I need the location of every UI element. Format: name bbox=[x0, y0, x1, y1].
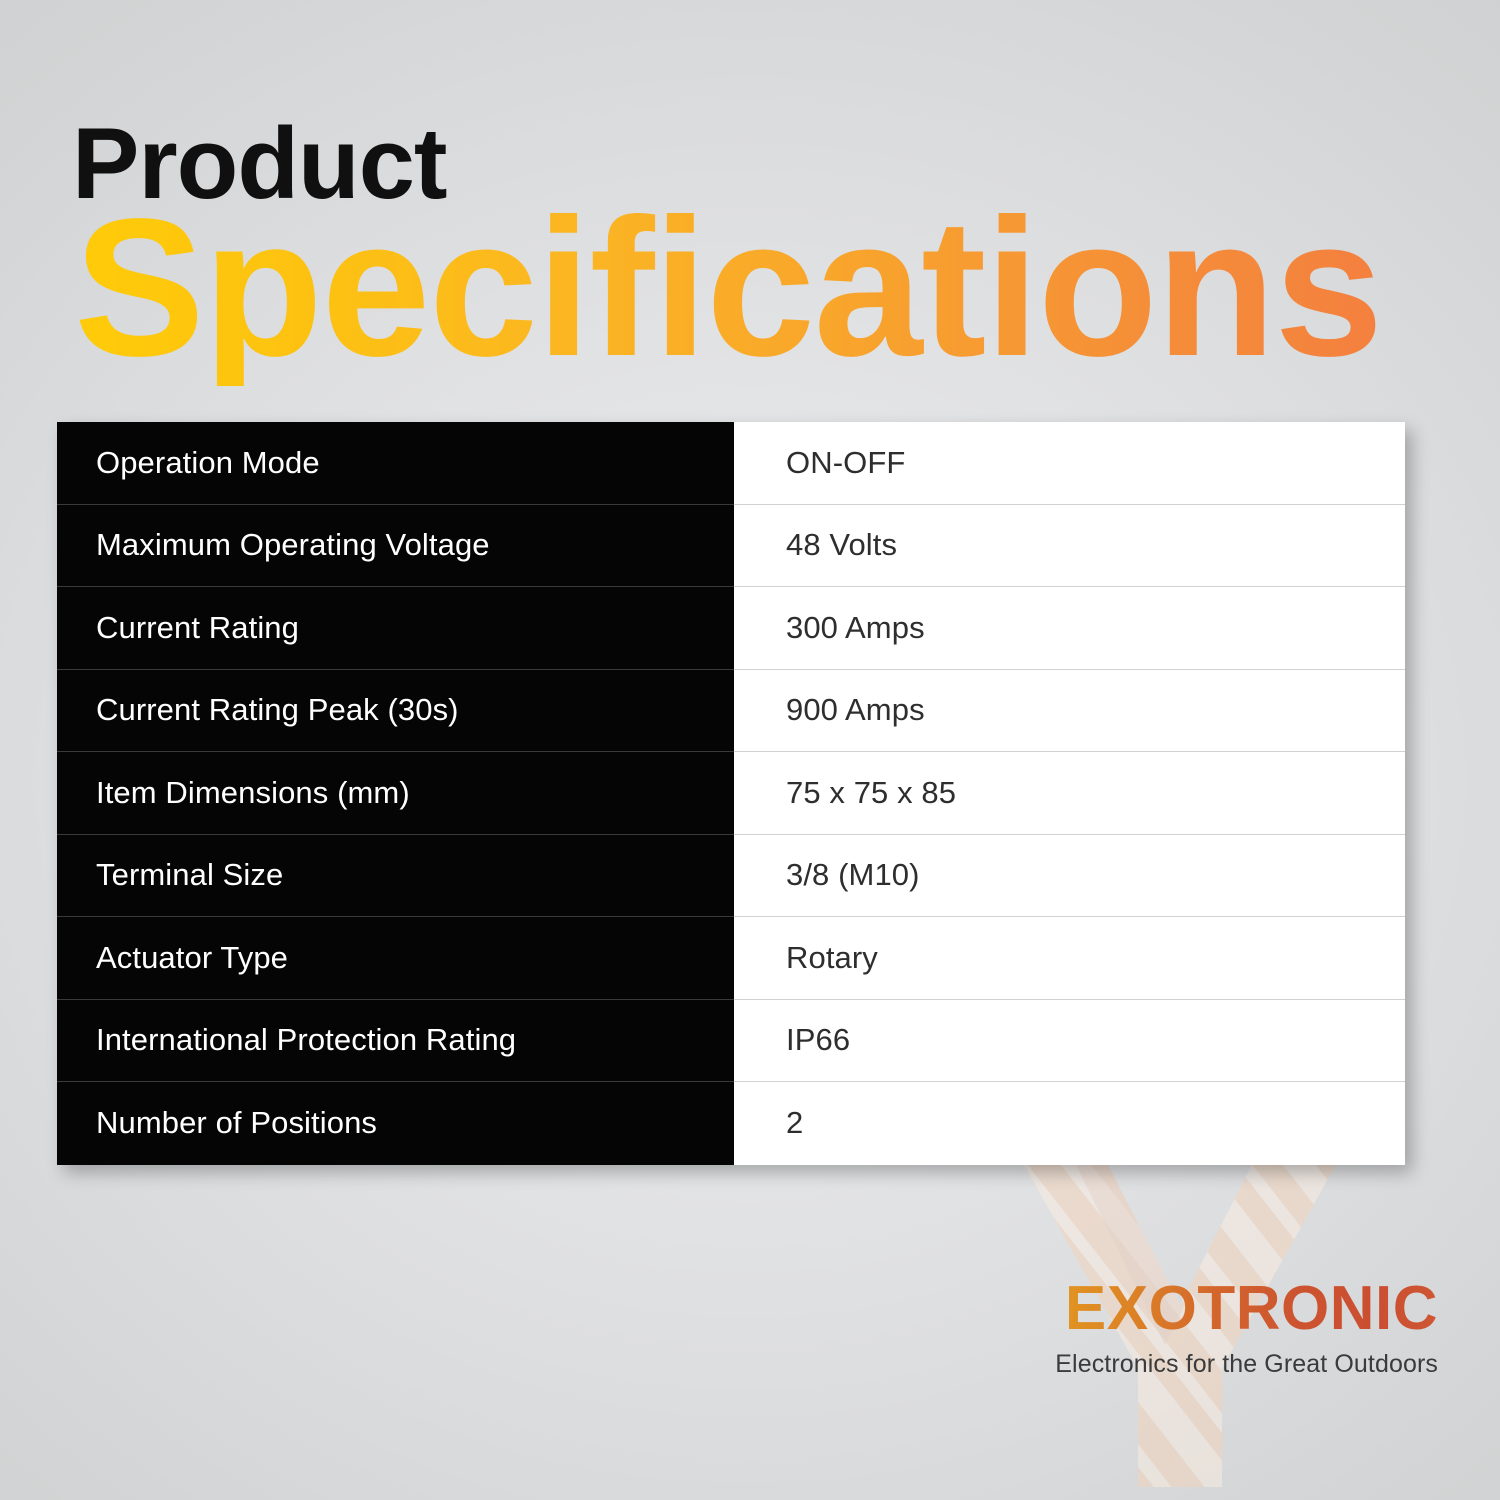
table-row: Actuator Type Rotary bbox=[57, 917, 1405, 1000]
specifications-table: Operation Mode ON-OFF Maximum Operating … bbox=[57, 422, 1405, 1165]
brand-tagline: Electronics for the Great Outdoors bbox=[968, 1350, 1438, 1379]
spec-label-number-of-positions: Number of Positions bbox=[57, 1082, 734, 1165]
brand-name: EXOTRONIC bbox=[968, 1278, 1438, 1340]
brand-logo: EXOTRONIC Electronics for the Great Outd… bbox=[968, 1278, 1438, 1379]
table-row: Terminal Size 3/8 (M10) bbox=[57, 835, 1405, 918]
spec-value-current-rating-peak: 900 Amps bbox=[734, 670, 1405, 753]
table-row: Current Rating 300 Amps bbox=[57, 587, 1405, 670]
spec-label-current-rating: Current Rating bbox=[57, 587, 734, 670]
spec-value-international-protection-rating: IP66 bbox=[734, 1000, 1405, 1083]
title-line-specifications: Specifications bbox=[74, 190, 1382, 386]
spec-label-international-protection-rating: International Protection Rating bbox=[57, 1000, 734, 1083]
spec-value-actuator-type: Rotary bbox=[734, 917, 1405, 1000]
spec-label-terminal-size: Terminal Size bbox=[57, 835, 734, 918]
table-row: International Protection Rating IP66 bbox=[57, 1000, 1405, 1083]
spec-label-operation-mode: Operation Mode bbox=[57, 422, 734, 505]
spec-value-item-dimensions: 75 x 75 x 85 bbox=[734, 752, 1405, 835]
spec-label-current-rating-peak: Current Rating Peak (30s) bbox=[57, 670, 734, 753]
table-row: Current Rating Peak (30s) 900 Amps bbox=[57, 670, 1405, 753]
spec-label-actuator-type: Actuator Type bbox=[57, 917, 734, 1000]
spec-value-terminal-size: 3/8 (M10) bbox=[734, 835, 1405, 918]
spec-label-item-dimensions: Item Dimensions (mm) bbox=[57, 752, 734, 835]
spec-label-maximum-operating-voltage: Maximum Operating Voltage bbox=[57, 505, 734, 588]
spec-value-operation-mode: ON-OFF bbox=[734, 422, 1405, 505]
table-row: Number of Positions 2 bbox=[57, 1082, 1405, 1165]
spec-value-maximum-operating-voltage: 48 Volts bbox=[734, 505, 1405, 588]
spec-value-number-of-positions: 2 bbox=[734, 1082, 1405, 1165]
table-row: Operation Mode ON-OFF bbox=[57, 422, 1405, 505]
table-row: Maximum Operating Voltage 48 Volts bbox=[57, 505, 1405, 588]
specification-poster: Product Specifications Operation Mode ON… bbox=[0, 0, 1500, 1500]
table-row: Item Dimensions (mm) 75 x 75 x 85 bbox=[57, 752, 1405, 835]
spec-value-current-rating: 300 Amps bbox=[734, 587, 1405, 670]
page-title: Product Specifications bbox=[72, 118, 1472, 211]
